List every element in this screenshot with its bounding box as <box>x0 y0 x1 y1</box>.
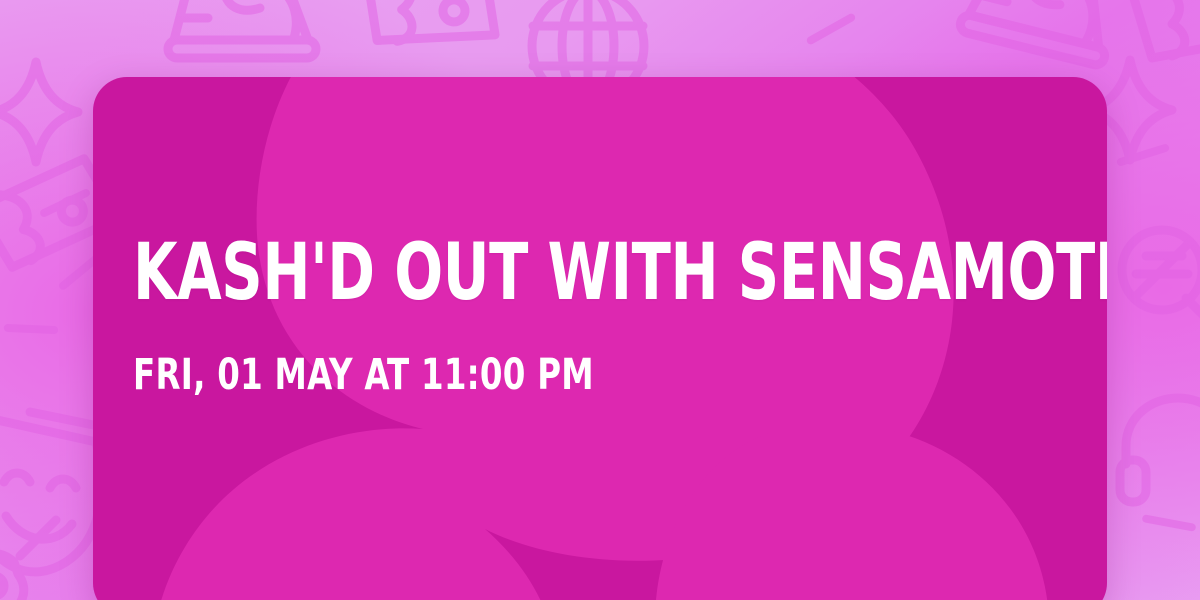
event-title: KASH'D OUT WITH SENSAMOTION <box>133 235 932 311</box>
event-card[interactable]: KASH'D OUT WITH SENSAMOTION FRI, 01 MAY … <box>93 77 1107 600</box>
event-banner: KASH'D OUT WITH SENSAMOTION FRI, 01 MAY … <box>0 0 1200 600</box>
event-date-time: FRI, 01 MAY AT 11:00 PM <box>133 354 951 397</box>
